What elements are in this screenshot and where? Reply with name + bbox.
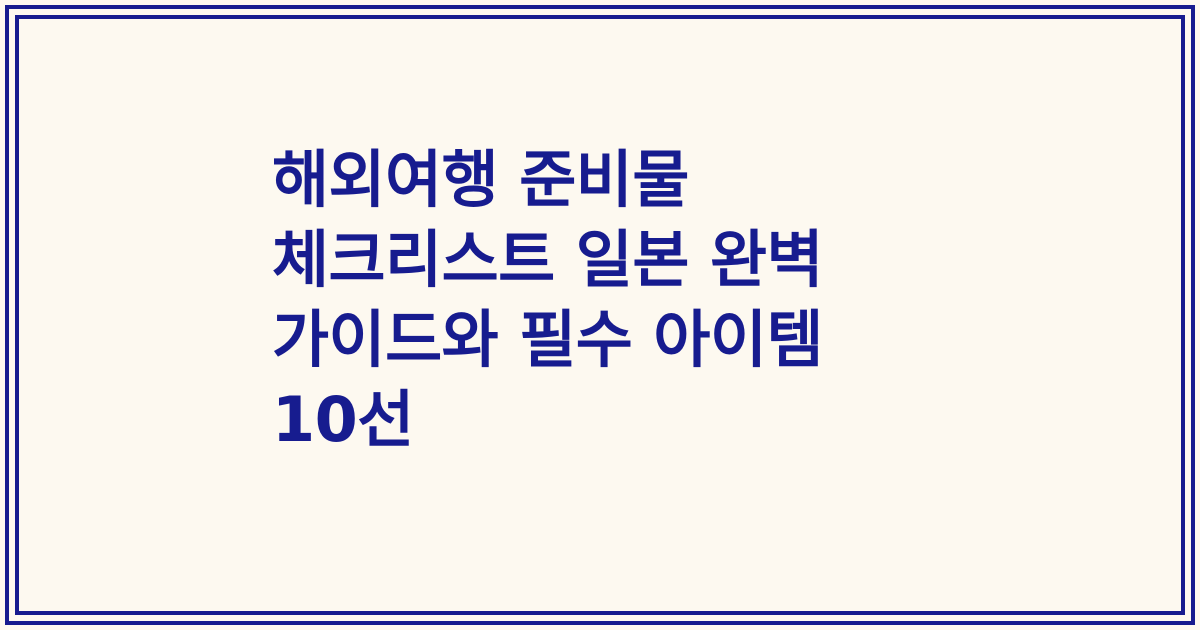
title-content-area: 해외여행 준비물 체크리스트 일본 완벽 가이드와 필수 아이템 10선 <box>0 0 1200 630</box>
thumbnail-canvas: 해외여행 준비물 체크리스트 일본 완벽 가이드와 필수 아이템 10선 <box>0 0 1200 630</box>
page-title: 해외여행 준비물 체크리스트 일본 완벽 가이드와 필수 아이템 10선 <box>272 140 962 460</box>
